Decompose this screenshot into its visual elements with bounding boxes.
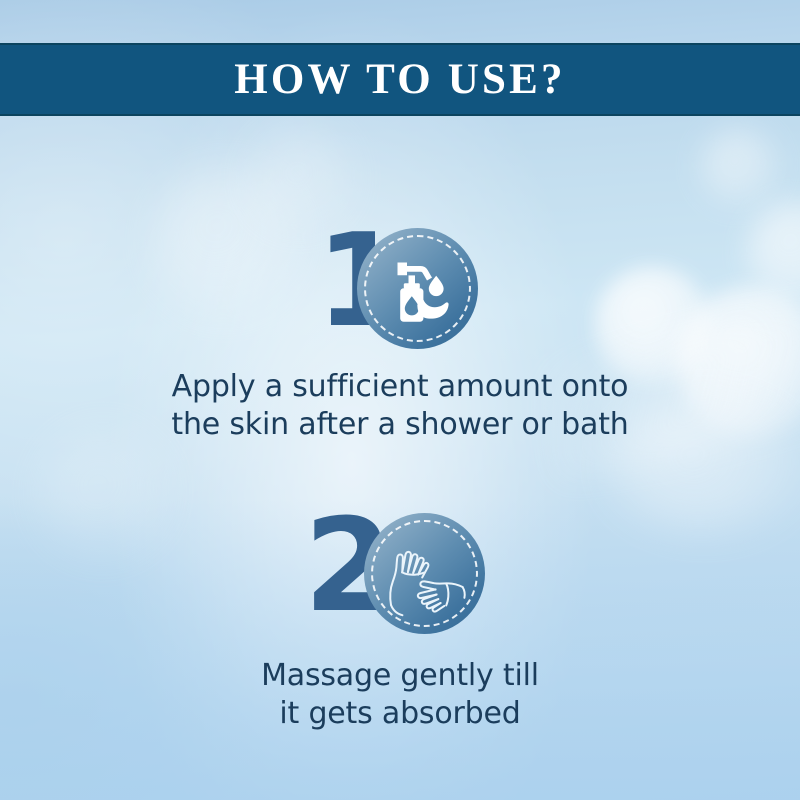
finger-8: [433, 603, 445, 612]
step-2-caption-line-1: Massage gently till: [0, 657, 800, 695]
step-1-caption-line-2: the skin after a shower or bath: [0, 406, 800, 444]
hand-right-outline: [420, 581, 462, 589]
page-title: HOW TO USE?: [234, 58, 566, 101]
pump-bottle-hand-droplet-icon: [357, 228, 478, 349]
step-2-caption: Massage gently till it gets absorbed: [0, 657, 800, 733]
hand-left-outline: [390, 554, 403, 605]
step-2-caption-line-2: it gets absorbed: [0, 695, 800, 733]
how-to-use-poster: HOW TO USE? 1: [0, 0, 800, 800]
wrist-left: [391, 605, 402, 615]
finger-5: [418, 589, 437, 598]
massaging-hands-icon: [364, 513, 485, 634]
finger-4: [418, 563, 428, 578]
step-2-badge: [364, 513, 485, 634]
wrist-right: [463, 587, 465, 598]
step-1: 1: [0, 228, 800, 444]
step-2: 2: [0, 513, 800, 733]
falling-droplet: [429, 276, 444, 296]
step-1-badge: [357, 228, 478, 349]
step-1-caption-line-1: Apply a sufficient amount onto: [0, 368, 800, 406]
header-banner: HOW TO USE?: [0, 43, 800, 116]
step-2-badge-row: 2: [0, 513, 800, 635]
palm-crease-right: [446, 583, 448, 605]
step-1-badge-row: 1: [0, 228, 800, 350]
step-1-caption: Apply a sufficient amount onto the skin …: [0, 368, 800, 444]
cupped-hand: [417, 300, 448, 319]
